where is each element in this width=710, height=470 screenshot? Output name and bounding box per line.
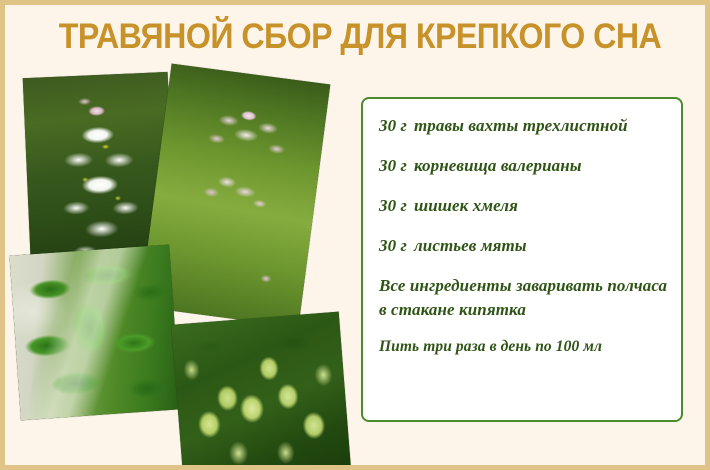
ingredient-row: 30 гшишек хмеля [379, 196, 665, 216]
ingredient-amount: 30 г [379, 116, 407, 135]
photo-mint [9, 245, 180, 421]
ingredient-row: 30 гкорневища валерианы [379, 156, 665, 176]
photo-hops-image [171, 312, 351, 470]
ingredient-row: 30 гтравы вахты трехлистной [379, 116, 665, 136]
ingredient-name: листьев мяты [414, 236, 527, 255]
dosage-line: Пить три раза в день по 100 мл [379, 338, 665, 356]
instruction-line: в стакане кипятка [379, 300, 665, 320]
ingredient-name: корневища валерианы [414, 156, 582, 175]
instruction-block: Все ингредиенты заваривать полчаса в ста… [379, 276, 665, 320]
ingredient-row: 30 глистьев мяты [379, 236, 665, 256]
instruction-line: Все ингредиенты заваривать полчаса [379, 276, 665, 296]
ingredient-amount: 30 г [379, 196, 407, 215]
herbal-sleep-tea-poster: ТРАВЯНОЙ СБОР ДЛЯ КРЕПКОГО СНА 30 гтравы… [0, 0, 710, 470]
photo-collage [5, 65, 355, 470]
ingredient-amount: 30 г [379, 236, 407, 255]
recipe-panel: 30 гтравы вахты трехлистной 30 гкорневищ… [361, 97, 683, 422]
photo-mint-image [9, 245, 180, 421]
photo-hops [171, 312, 351, 470]
ingredient-name: травы вахты трехлистной [414, 116, 628, 135]
ingredient-name: шишек хмеля [414, 196, 518, 215]
page-title: ТРАВЯНОЙ СБОР ДЛЯ КРЕПКОГО СНА [33, 19, 686, 54]
ingredient-amount: 30 г [379, 156, 407, 175]
